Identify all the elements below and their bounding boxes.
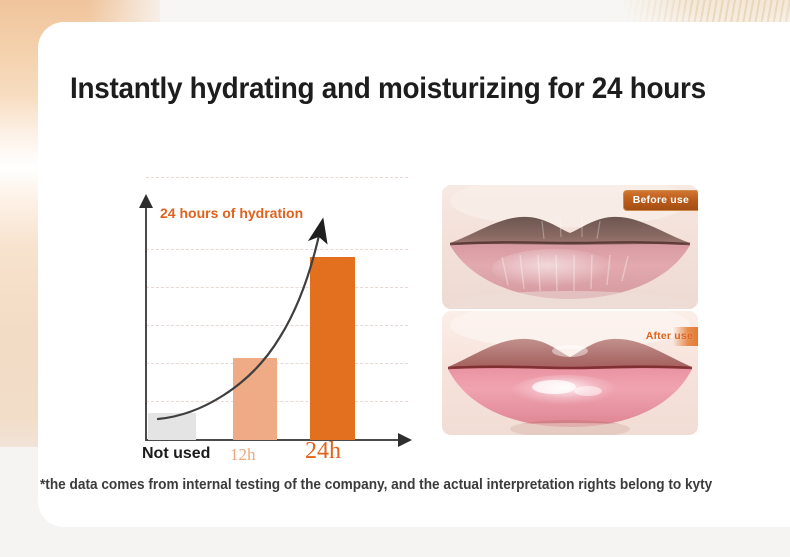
grid-line <box>146 287 408 288</box>
bar-24h <box>310 257 355 440</box>
footnote-text: *the data comes from internal testing of… <box>40 477 712 493</box>
bar-label-not-used: Not used <box>142 445 210 463</box>
before-use-badge: Before use <box>623 190 698 211</box>
promo-graphic: Instantly hydrating and moisturizing for… <box>0 0 790 557</box>
bar-not-used <box>148 413 196 440</box>
before-use-photo: Before use <box>442 185 698 309</box>
x-axis-arrow-icon <box>398 433 412 447</box>
hydration-bar-chart: 24 hours of hydration Not used 12h 24h <box>100 177 480 467</box>
grid-line <box>146 401 408 402</box>
content-card: Instantly hydrating and moisturizing for… <box>38 22 790 527</box>
grid-line <box>146 249 408 250</box>
trend-arrow-icon <box>140 197 440 447</box>
y-axis-arrow-icon <box>139 194 153 208</box>
after-use-badge: After use <box>637 327 698 346</box>
grid-line <box>146 325 408 326</box>
page-title: Instantly hydrating and moisturizing for… <box>70 72 706 106</box>
bar-label-24h: 24h <box>305 438 341 465</box>
y-axis-line <box>145 205 147 440</box>
after-use-photo: After use <box>442 311 698 435</box>
chart-axis-label: 24 hours of hydration <box>160 205 303 221</box>
bar-12h <box>233 358 277 440</box>
grid-line <box>146 363 408 364</box>
bar-label-12h: 12h <box>230 445 256 465</box>
